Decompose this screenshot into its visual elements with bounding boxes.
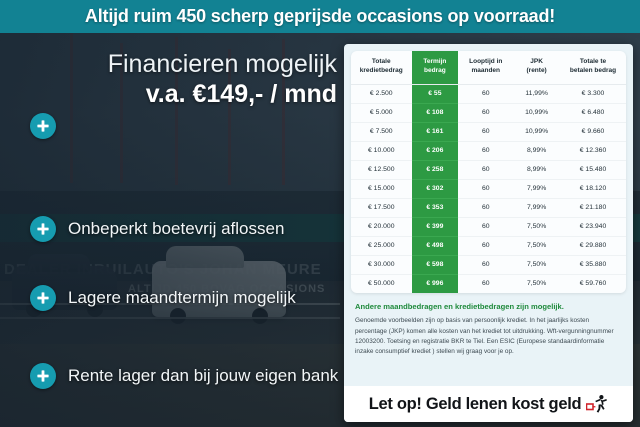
table-cell: € 598 — [412, 255, 459, 274]
table-header-row: TotalekredietbedragTermijnbedragLooptijd… — [351, 51, 626, 84]
table-cell: € 258 — [412, 160, 459, 179]
feature-item-label: Onbeperkt boetevrij aflossen — [68, 219, 284, 239]
table-cell: € 7.500 — [351, 122, 412, 141]
table-cell: € 25.000 — [351, 236, 412, 255]
banner-headline: Altijd ruim 450 scherp geprijsde occasio… — [85, 6, 555, 27]
financing-table: TotalekredietbedragTermijnbedragLooptijd… — [351, 51, 626, 293]
feature-item-label: Lagere maandtermijn mogelijk — [68, 288, 296, 308]
table-row: € 50.000€ 996607,50%€ 59.760 — [351, 274, 626, 293]
table-cell: € 6.480 — [560, 103, 626, 122]
table-cell: 10,99% — [513, 103, 560, 122]
legal-warning-text: Let op! Geld lenen kost geld — [369, 395, 582, 414]
table-cell: € 59.760 — [560, 274, 626, 293]
plus-circle-icon — [30, 216, 56, 242]
table-cell: € 21.180 — [560, 198, 626, 217]
table-cell: € 18.120 — [560, 179, 626, 198]
table-cell: 60 — [458, 103, 513, 122]
table-cell: € 20.000 — [351, 217, 412, 236]
table-cell: 8,99% — [513, 160, 560, 179]
table-cell: 60 — [458, 274, 513, 293]
plus-circle-icon — [30, 363, 56, 389]
table-column-header: Totale tebetalen bedrag — [560, 51, 626, 84]
table-cell: € 9.660 — [560, 122, 626, 141]
table-cell: € 2.500 — [351, 84, 412, 103]
table-cell: 60 — [458, 236, 513, 255]
table-cell: € 302 — [412, 179, 459, 198]
table-cell: 60 — [458, 179, 513, 198]
table-cell: 7,50% — [513, 217, 560, 236]
table-row: € 17.500€ 353607,99%€ 21.180 — [351, 198, 626, 217]
table-cell: 11,99% — [513, 84, 560, 103]
table-cell: 60 — [458, 217, 513, 236]
table-cell: 7,50% — [513, 274, 560, 293]
table-row: € 7.500€ 1616010,99%€ 9.660 — [351, 122, 626, 141]
table-row: € 10.000€ 206608,99%€ 12.360 — [351, 141, 626, 160]
table-cell: 60 — [458, 160, 513, 179]
table-cell: € 12.500 — [351, 160, 412, 179]
table-cell: € 55 — [412, 84, 459, 103]
table-cell: € 353 — [412, 198, 459, 217]
plus-circle-icon — [30, 113, 56, 139]
table-cell: € 35.880 — [560, 255, 626, 274]
table-cell: € 29.880 — [560, 236, 626, 255]
table-cell: 10,99% — [513, 122, 560, 141]
table-cell: € 10.000 — [351, 141, 412, 160]
table-cell: € 50.000 — [351, 274, 412, 293]
table-cell: 60 — [458, 198, 513, 217]
table-column-header: Termijnbedrag — [412, 51, 459, 84]
disclaimer-section: Andere maandbedragen en kredietbedragen … — [344, 293, 633, 357]
table-row: € 2.500€ 556011,99%€ 3.300 — [351, 84, 626, 103]
headline-secondary: v.a. €149,- / mnd — [27, 80, 337, 109]
feature-item-2: Lagere maandtermijn mogelijk — [30, 285, 296, 311]
table-cell: € 161 — [412, 122, 459, 141]
legal-warning-bar: Let op! Geld lenen kost geld — [344, 386, 633, 422]
table-row: € 20.000€ 399607,50%€ 23.940 — [351, 217, 626, 236]
table-cell: € 23.940 — [560, 217, 626, 236]
table-cell: 7,99% — [513, 198, 560, 217]
table-body: € 2.500€ 556011,99%€ 3.300€ 5.000€ 10860… — [351, 84, 626, 293]
table-cell: € 15.000 — [351, 179, 412, 198]
top-banner: Altijd ruim 450 scherp geprijsde occasio… — [0, 0, 640, 33]
running-man-money-icon — [586, 394, 608, 414]
table-column-header: Looptijd inmaanden — [458, 51, 513, 84]
disclaimer-body: Genoemde voorbeelden zijn op basis van p… — [355, 316, 622, 356]
table-cell: € 108 — [412, 103, 459, 122]
headline-block: Financieren mogelijk v.a. €149,- / mnd — [27, 51, 337, 109]
table-cell: 60 — [458, 122, 513, 141]
table-cell: 7,50% — [513, 255, 560, 274]
table-row: € 30.000€ 598607,50%€ 35.880 — [351, 255, 626, 274]
table-column-header: Totalekredietbedrag — [351, 51, 412, 84]
table-row: € 25.000€ 498607,50%€ 29.880 — [351, 236, 626, 255]
table-cell: € 399 — [412, 217, 459, 236]
table-cell: € 498 — [412, 236, 459, 255]
table-cell: € 996 — [412, 274, 459, 293]
ad-creative: DEALER INRUILAUTO'S JOHAN MEURE ALTIJD 4… — [0, 0, 640, 427]
table-cell: € 30.000 — [351, 255, 412, 274]
feature-item-1: Onbeperkt boetevrij aflossen — [30, 216, 284, 242]
table-cell: 60 — [458, 141, 513, 160]
financing-card: TotalekredietbedragTermijnbedragLooptijd… — [344, 44, 633, 422]
plus-circle-icon — [30, 285, 56, 311]
table-cell: € 15.480 — [560, 160, 626, 179]
disclaimer-title: Andere maandbedragen en kredietbedragen … — [355, 302, 622, 312]
table-cell: 7,99% — [513, 179, 560, 198]
table-cell: 8,99% — [513, 141, 560, 160]
table-column-header: JPK(rente) — [513, 51, 560, 84]
table-cell: € 206 — [412, 141, 459, 160]
table-row: € 12.500€ 258608,99%€ 15.480 — [351, 160, 626, 179]
headline-primary: Financieren mogelijk — [27, 51, 337, 77]
table-cell: € 3.300 — [560, 84, 626, 103]
table-cell: 60 — [458, 255, 513, 274]
table-cell: € 12.360 — [560, 141, 626, 160]
table-cell: € 5.000 — [351, 103, 412, 122]
table-cell: 7,50% — [513, 236, 560, 255]
table-row: € 15.000€ 302607,99%€ 18.120 — [351, 179, 626, 198]
features-column: Financieren mogelijk v.a. €149,- / mnd O… — [0, 33, 345, 427]
table-cell: 60 — [458, 84, 513, 103]
feature-item-label: Rente lager dan bij jouw eigen bank — [68, 366, 338, 386]
feature-item-3: Rente lager dan bij jouw eigen bank — [30, 363, 338, 389]
table-row: € 5.000€ 1086010,99%€ 6.480 — [351, 103, 626, 122]
table-header: TotalekredietbedragTermijnbedragLooptijd… — [351, 51, 626, 84]
table-cell: € 17.500 — [351, 198, 412, 217]
financing-table-container: TotalekredietbedragTermijnbedragLooptijd… — [351, 51, 626, 293]
